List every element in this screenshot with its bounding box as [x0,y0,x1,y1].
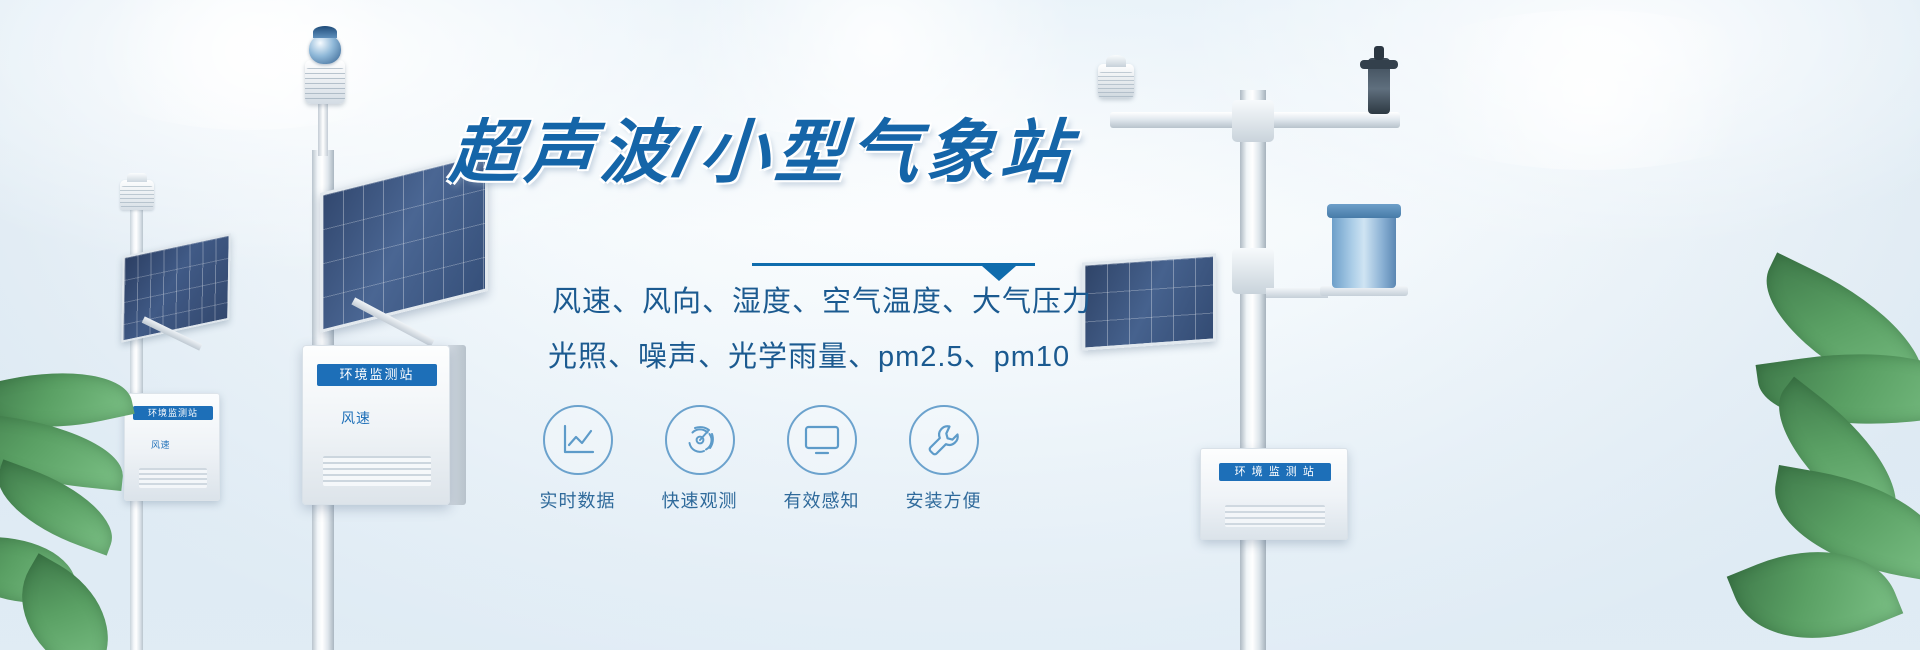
feature-list: 实时数据 快速观测 [540,405,1060,513]
product-banner: 环境监测站 风速 环境监测站 风速 环 境 监 测 站 [0,0,1920,650]
station-b-mast [318,100,328,156]
subtitle-line-1: 风速、风向、湿度、空气温度、大气压力 [552,288,1092,317]
radar-wind-icon [665,405,735,475]
feature-label: 有效感知 [784,487,860,513]
station-c-arm-clamp [1232,100,1274,142]
station-c-label: 环 境 监 测 站 [1219,463,1331,481]
divider-triangle-icon [982,266,1016,281]
banner-content: 超声波/小型气象站 风速、风向、湿度、空气温度、大气压力 光照、噪声、光学雨量、… [440,0,1060,650]
wrench-icon [909,405,979,475]
station-c-sensor-fins [1098,72,1134,98]
subtitle-line-2: 光照、噪声、光学雨量、pm2.5、pm10 [548,343,1070,372]
feature-item-easy-installation[interactable]: 安装方便 [906,405,981,513]
feature-label: 实时数据 [540,487,616,513]
monitor-icon [787,405,857,475]
station-c-solar-panel [1082,253,1216,350]
station-c-control-box: 环 境 监 测 站 [1200,448,1348,540]
leaf-decoration-right [1610,290,1920,650]
station-b-brand-logo: 风速 [341,408,371,428]
feature-item-fast-observation[interactable]: 快速观测 [662,405,737,513]
page-title: 超声波/小型气象站 [448,118,1113,187]
station-b-control-box: 环境监测站 风速 [302,345,450,505]
station-b-vent [323,456,431,486]
title-divider [752,263,1035,279]
feature-label: 快速观测 [662,487,738,513]
station-c-wind-vane [1368,58,1390,114]
station-c-rain-gauge [1332,212,1396,288]
leaf-decoration-left [0,330,240,650]
feature-label: 安装方便 [906,487,982,513]
station-b-radiation-shield [305,68,345,102]
station-a-radiation-shield [120,186,154,208]
station-c-vent [1225,505,1325,527]
feature-item-realtime-data[interactable]: 实时数据 [540,405,615,513]
station-b-label: 环境监测站 [317,364,437,386]
station-c-pole [1240,90,1266,650]
cloud-decoration [1380,10,1800,170]
station-b-ultrasonic-dome [309,34,341,64]
station-c-rain-gauge-arm [1266,288,1328,298]
line-chart-icon [543,405,613,475]
feature-item-effective-sensing[interactable]: 有效感知 [784,405,859,513]
